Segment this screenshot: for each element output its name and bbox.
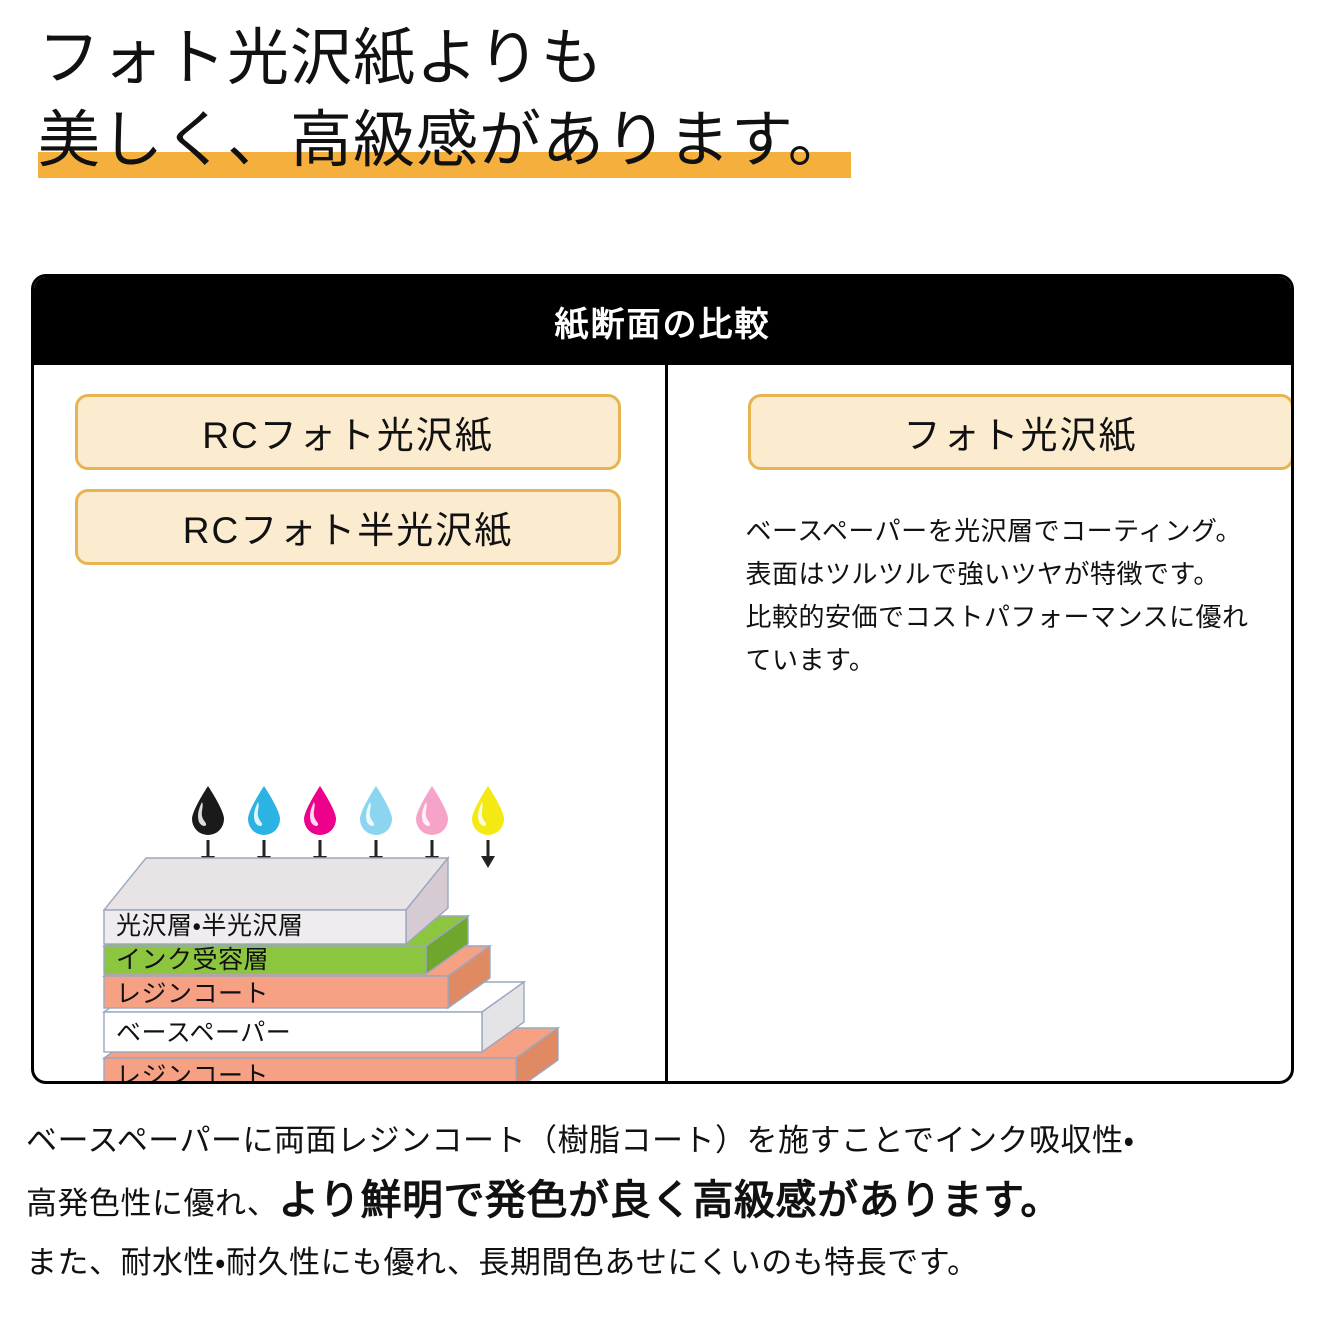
panel-body: RCフォト光沢紙 RCフォト半光沢紙 [34, 365, 1291, 1081]
chip-label: RCフォト光沢紙 [202, 405, 493, 459]
chip-rc-photo-semiglossy: RCフォト半光沢紙 [75, 489, 621, 565]
description-line-4: ています。 [746, 639, 1286, 682]
footer-line-3: また、耐水性・耐久性にも優れ、長期間色あせにくいのも特長です。 [26, 1235, 1306, 1291]
footer-line-1: ベースペーパーに両面レジンコート（樹脂コート）を施すことでインク吸収性・ [26, 1113, 1306, 1169]
description-line-2: 表面はツルツルで強いツヤが特徴です。 [746, 553, 1286, 596]
comparison-panel: 紙断面の比較 RCフォト光沢紙 RCフォト半光沢紙 [31, 274, 1294, 1084]
layer-label-base-paper: ベースペーパー [116, 1019, 291, 1047]
layer-label-resin-coat-bottom: レジンコート [116, 1062, 269, 1084]
layer-label-glossy: 光沢層・半光沢層 [116, 912, 304, 940]
description-line-3: 比較的安価でコストパフォーマンスに優れ [746, 596, 1286, 639]
footer-line-2-emphasis: より鮮明で発色が良く高級感があります。 [278, 1169, 1062, 1231]
headline: フォト光沢紙よりも 美しく、高級感があります。 [38, 18, 1288, 182]
panel-title-bar: 紙断面の比較 [34, 277, 1291, 365]
layer-stack-rc-photo: 光沢層・半光沢層 インク受容層 レジンコート ベースペーパー レジンコート [96, 852, 616, 1084]
footer-line-2-prefix: 高発色性に優れ、 [26, 1173, 278, 1235]
left-column: RCフォト光沢紙 RCフォト半光沢紙 [34, 365, 664, 1081]
chip-label: フォト光沢紙 [904, 405, 1138, 459]
panel-title: 紙断面の比較 [555, 297, 771, 346]
chip-rc-photo-glossy: RCフォト光沢紙 [75, 394, 621, 470]
right-column: フォト光沢紙 ベースペーパーを光沢層でコーティング。 表面はツルツルで強いツヤが… [664, 365, 1292, 1081]
headline-line-2: 美しく、高級感があります。 [38, 100, 851, 182]
layer-label-resin-coat-top: レジンコート [116, 980, 269, 1008]
right-description: ベースペーパーを光沢層でコーティング。 表面はツルツルで強いツヤが特徴です。 比… [746, 510, 1286, 682]
description-line-1: ベースペーパーを光沢層でコーティング。 [746, 510, 1286, 553]
chip-label: RCフォト半光沢紙 [183, 500, 513, 554]
headline-line-1: フォト光沢紙よりも [38, 18, 1288, 100]
headline-line-2-text: 美しく、高級感があります。 [38, 106, 851, 175]
footer-paragraph: ベースペーパーに両面レジンコート（樹脂コート）を施すことでインク吸収性・ 高発色… [26, 1113, 1306, 1291]
chip-photo-glossy: フォト光沢紙 [748, 394, 1294, 470]
layer-label-ink-receiving: インク受容層 [116, 946, 269, 974]
footer-line-2: 高発色性に優れ、 より鮮明で発色が良く高級感があります。 [26, 1169, 1306, 1235]
